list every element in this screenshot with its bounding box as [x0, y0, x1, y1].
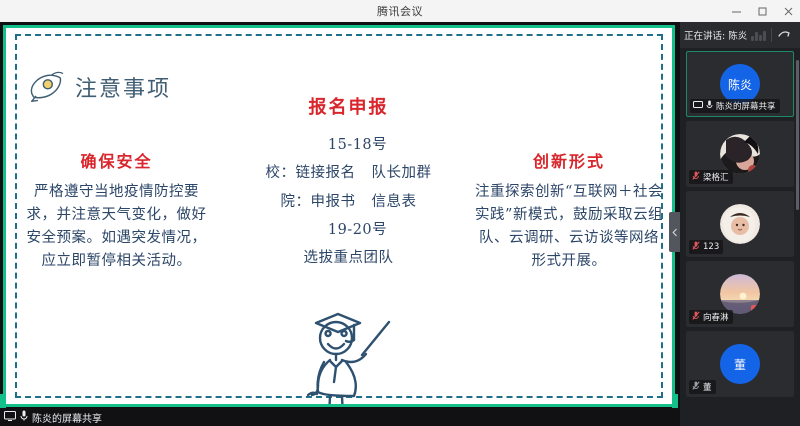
slide-column-innovation: 创新形式 注重探索创新“互联网＋社会实践”新模式，鼓励采取云组队、云调研、云访谈…	[474, 148, 664, 273]
window-title: 腾讯会议	[377, 3, 423, 19]
registration-college-item-2: 信息表	[372, 188, 417, 216]
microphone-muted-icon	[692, 171, 700, 183]
registration-college-item-1: 申报书	[311, 188, 356, 216]
collapse-panel-icon[interactable]	[778, 26, 790, 44]
participant-tile-dong[interactable]: 董 董	[686, 331, 794, 397]
participant-tile-123[interactable]: 123	[686, 191, 794, 257]
active-speaker-label: 正在讲话: 陈炎	[684, 28, 747, 42]
screen-share-frame: 注意事项 确保安全 严格遵守当地疫情防控要求，并注意天气变化，做好安全预案。如遇…	[3, 25, 675, 407]
registration-school-label: 校：	[266, 159, 296, 187]
participant-label: 梁格汇	[689, 170, 733, 184]
column-body-safety: 严格遵守当地疫情防控要求，并注意天气变化，做好安全预案。如遇突发情况，应立即暂停…	[24, 181, 209, 273]
screen-share-status-bar: 陈炎的屏幕共享	[0, 408, 680, 426]
close-button[interactable]	[782, 5, 794, 17]
participant-name: 董	[703, 381, 712, 393]
column-heading-safety: 确保安全	[24, 148, 209, 172]
window-controls	[730, 0, 794, 22]
registration-college-label: 院：	[281, 188, 311, 216]
panel-collapse-handle[interactable]	[669, 212, 680, 252]
avatar	[720, 274, 760, 314]
meeting-window-body: 注意事项 确保安全 严格遵守当地疫情防控要求，并注意天气变化，做好安全预案。如遇…	[0, 22, 800, 426]
column-body-innovation: 注重探索创新“互联网＋社会实践”新模式，鼓励采取云组队、云调研、云访谈等网络形式…	[474, 181, 664, 273]
rocket-icon	[26, 70, 66, 104]
registration-row-school: 校： 链接报名 队长加群	[236, 159, 461, 187]
microphone-icon	[706, 100, 713, 112]
participant-label: 向春淋	[689, 310, 733, 324]
screen-share-status-text: 陈炎的屏幕共享	[32, 410, 102, 425]
registration-row-college: 院： 申报书 信息表	[236, 188, 461, 216]
participant-name: 123	[703, 242, 719, 252]
participant-name: 陈炎的屏幕共享	[716, 100, 776, 112]
participant-panel: 正在讲话: 陈炎 陈炎 陈炎的屏幕共享	[680, 22, 800, 426]
participant-label: 123	[689, 240, 723, 254]
share-frame-edge-right	[672, 394, 678, 408]
participant-name: 向春淋	[703, 311, 729, 323]
audio-waveform-icon	[751, 29, 766, 41]
participant-tile-xiangchunlin[interactable]: 向春淋	[686, 261, 794, 327]
participant-name: 梁格汇	[703, 171, 729, 183]
registration-college-items: 申报书 信息表	[311, 188, 417, 216]
participant-tiles[interactable]: 陈炎 陈炎的屏幕共享	[680, 48, 800, 426]
window-titlebar: 腾讯会议	[0, 0, 800, 22]
column-heading-innovation: 创新形式	[474, 148, 664, 172]
avatar: 陈炎	[720, 64, 760, 104]
participant-tile-chenyan[interactable]: 陈炎 陈炎的屏幕共享	[686, 51, 794, 117]
presentation-slide: 注意事项 确保安全 严格遵守当地疫情防控要求，并注意天气变化，做好安全预案。如遇…	[6, 28, 672, 404]
participant-label: 陈炎的屏幕共享	[690, 99, 780, 113]
participant-label: 董	[689, 380, 716, 394]
screen-icon	[4, 408, 16, 426]
registration-line-dates-2: 19-20号	[236, 216, 461, 244]
active-speaker-bar: 正在讲话: 陈炎	[680, 22, 800, 48]
participant-tile-liangguihui[interactable]: 梁格汇	[686, 121, 794, 187]
graduate-stickman-icon	[294, 300, 409, 404]
column-heading-registration: 报名申报	[236, 93, 461, 119]
registration-school-item-1: 链接报名	[296, 159, 356, 187]
microphone-muted-icon	[692, 381, 700, 393]
registration-line-dates-1: 15-18号	[236, 131, 461, 159]
microphone-muted-icon	[692, 311, 700, 323]
registration-line-selection: 选拔重点团队	[236, 244, 461, 272]
microphone-muted-icon	[692, 241, 700, 253]
shared-screen-area: 注意事项 确保安全 严格遵守当地疫情防控要求，并注意天气变化，做好安全预案。如遇…	[0, 22, 680, 426]
slide-header: 注意事项	[26, 70, 171, 104]
column-body-registration: 15-18号 校： 链接报名 队长加群 院： 申报书	[236, 131, 461, 272]
avatar: 董	[720, 344, 760, 384]
registration-school-item-2: 队长加群	[372, 159, 432, 187]
camera-off-badge	[751, 305, 760, 314]
toolbar-divider	[771, 28, 772, 42]
screen-share-icon	[693, 101, 703, 112]
registration-school-items: 链接报名 队长加群	[296, 159, 432, 187]
participant-panel-scrollbar[interactable]	[796, 60, 799, 210]
maximize-button[interactable]	[756, 5, 768, 17]
minimize-button[interactable]	[730, 5, 742, 17]
slide-column-registration: 报名申报 15-18号 校： 链接报名 队长加群 院：	[236, 93, 461, 272]
slide-title: 注意事项	[75, 71, 171, 103]
avatar	[720, 204, 760, 244]
slide-column-safety: 确保安全 严格遵守当地疫情防控要求，并注意天气变化，做好安全预案。如遇突发情况，…	[24, 148, 209, 273]
microphone-icon	[20, 408, 28, 426]
avatar	[720, 134, 760, 174]
share-frame-edge-left	[0, 394, 6, 408]
